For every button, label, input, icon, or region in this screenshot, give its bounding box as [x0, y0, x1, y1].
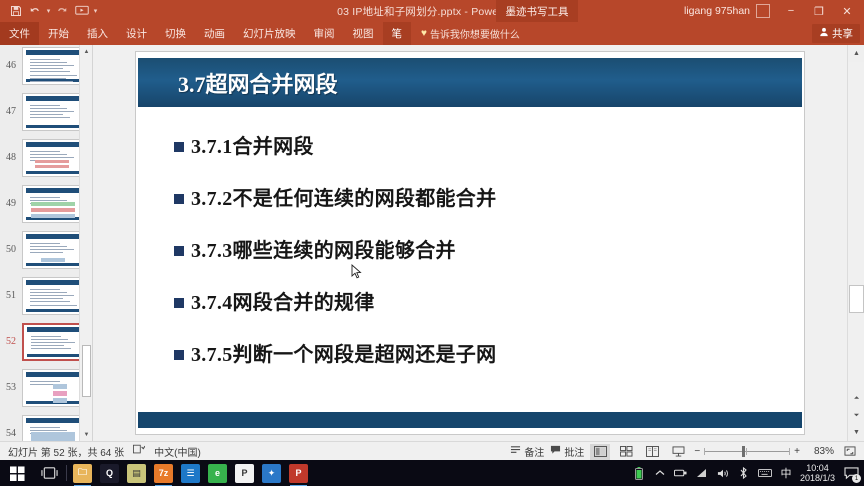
bullet-text: 3.7.5判断一个网段是超网还是子网	[191, 338, 496, 367]
language-indicator[interactable]: 中文(中国)	[154, 444, 201, 459]
comment-icon	[550, 445, 561, 458]
notes-icon	[510, 445, 521, 458]
file-explorer-icon[interactable]: 🗀	[73, 464, 92, 483]
notification-center-icon[interactable]: 1	[842, 464, 860, 482]
normal-view-button[interactable]	[590, 444, 610, 460]
bullet-square-icon	[174, 194, 184, 204]
thumbnail-number: 54	[0, 415, 22, 439]
thumbnail-scrollbar-thumb[interactable]	[82, 345, 91, 397]
title-bar: ▾ ▾ 03 IP地址和子网划分.pptx - PowerPoint 墨迹书写工…	[0, 0, 864, 22]
slideshow-view-button[interactable]	[668, 444, 688, 460]
qq-messenger-icon[interactable]: Q	[100, 464, 119, 483]
share-button[interactable]: 共享	[812, 24, 860, 43]
media-player-icon[interactable]: 7z	[154, 464, 173, 483]
bullet-text: 3.7.4网段合并的规律	[191, 286, 375, 315]
window-controls: ligang 975han − ❐ ✕	[684, 0, 860, 22]
tab-animations[interactable]: 动画	[195, 22, 234, 45]
thumbnail-number: 50	[0, 231, 22, 255]
thumbnail-preview[interactable]	[22, 139, 84, 177]
thumbnail-number: 47	[0, 93, 22, 117]
bluetooth-icon[interactable]	[737, 466, 751, 480]
zoom-in-button[interactable]: +	[794, 446, 800, 457]
thumbnail-number: 52	[0, 323, 22, 347]
bullet-square-icon	[174, 350, 184, 360]
lightbulb-icon: ♥	[421, 28, 427, 39]
tab-slideshow[interactable]: 幻灯片放映	[234, 22, 305, 45]
thumbnail-preview[interactable]	[22, 323, 84, 361]
undo-dropdown-icon[interactable]: ▾	[44, 2, 53, 21]
thumbnail-number: 51	[0, 277, 22, 301]
zoom-slider[interactable]	[704, 451, 790, 452]
scroll-down-icon[interactable]: ▼	[80, 428, 93, 441]
ribbon-tab-bar: 文件 开始 插入 设计 切换 动画 幻灯片放映 审阅 视图 笔 ♥ 告诉我你想要…	[0, 22, 864, 45]
taskbar-clock[interactable]: 10:04 2018/1/3	[800, 463, 835, 483]
tab-file[interactable]: 文件	[0, 22, 39, 45]
undo-icon[interactable]	[25, 2, 44, 21]
bullet-text: 3.7.1合并网段	[191, 130, 314, 159]
close-button[interactable]: ✕	[834, 1, 860, 22]
thumbnail-preview[interactable]	[22, 415, 84, 441]
contextual-tab-ink-tools[interactable]: 墨迹书写工具	[496, 0, 578, 22]
user-account-name[interactable]: ligang 975han	[684, 5, 750, 17]
save-icon[interactable]	[6, 2, 25, 21]
redo-icon[interactable]	[53, 2, 72, 21]
start-button-icon[interactable]	[0, 460, 34, 486]
tab-insert[interactable]: 插入	[78, 22, 117, 45]
slide-bullet-2[interactable]: 3.7.2不是任何连续的网段都能合并	[174, 182, 784, 211]
notification-badge: 1	[852, 474, 861, 483]
tab-design[interactable]: 设计	[117, 22, 156, 45]
bullet-text: 3.7.2不是任何连续的网段都能合并	[191, 182, 496, 211]
system-tray: 中 10:04 2018/1/3 1	[632, 460, 864, 486]
bullet-square-icon	[174, 246, 184, 256]
slide-bullet-5[interactable]: 3.7.5判断一个网段是超网还是子网	[174, 338, 784, 367]
battery-icon[interactable]	[632, 466, 646, 480]
wifi-icon[interactable]	[695, 466, 709, 480]
scroll-up-arrow-icon[interactable]: ▲	[848, 45, 864, 62]
spellcheck-icon[interactable]	[133, 444, 145, 458]
usb-icon[interactable]	[674, 466, 688, 480]
tell-me-placeholder: 告诉我你想要做什么	[430, 26, 520, 41]
thumbnail-number: 46	[0, 47, 22, 71]
person-icon	[819, 27, 829, 40]
clock-time: 10:04	[800, 463, 835, 473]
zoom-control[interactable]: − +	[694, 446, 800, 457]
browser-app-icon[interactable]: e	[208, 464, 227, 483]
task-list-app-icon[interactable]: ☰	[181, 464, 200, 483]
zoom-level-label[interactable]: 83%	[806, 446, 834, 457]
slide-sorter-view-button[interactable]	[616, 444, 636, 460]
bullet-square-icon	[174, 298, 184, 308]
next-slide-icon[interactable]: ⏷	[848, 407, 864, 424]
previous-slide-icon[interactable]: ⏶	[848, 390, 864, 407]
tab-transitions[interactable]: 切换	[156, 22, 195, 45]
slide-footer-banner	[138, 412, 802, 428]
tab-view[interactable]: 视图	[344, 22, 383, 45]
bullet-square-icon	[174, 142, 184, 152]
powerpoint-window: ▾ ▾ 03 IP地址和子网划分.pptx - PowerPoint 墨迹书写工…	[0, 0, 864, 486]
notes-button[interactable]: 备注	[510, 444, 544, 459]
start-presentation-icon[interactable]	[72, 2, 91, 21]
slide-body-placeholder[interactable]: 3.7.1合并网段3.7.2不是任何连续的网段都能合并3.7.3哪些连续的网段能…	[174, 130, 784, 390]
tell-me-search[interactable]: ♥ 告诉我你想要做什么	[411, 22, 520, 45]
fit-slide-to-window-button[interactable]	[840, 444, 860, 460]
thumbnail-scrollbar[interactable]: ▲ ▼	[79, 45, 92, 441]
task-view-icon[interactable]	[34, 460, 64, 486]
thumbnail-preview[interactable]	[22, 93, 84, 131]
taskbar-divider	[66, 465, 67, 481]
ime-language-icon[interactable]: 中	[779, 466, 793, 480]
reading-view-button[interactable]	[642, 444, 662, 460]
thumbnail-preview[interactable]	[22, 277, 84, 315]
thumbnail-number: 53	[0, 369, 22, 393]
zoom-out-button[interactable]: −	[694, 446, 700, 457]
tab-home[interactable]: 开始	[39, 22, 78, 45]
thumbnail-preview[interactable]	[22, 231, 84, 269]
bullet-text: 3.7.3哪些连续的网段能够合并	[191, 234, 456, 263]
thumbnail-number: 48	[0, 139, 22, 163]
slide-thumbnail-pane[interactable]: 464748495051525354 ▲ ▼	[0, 45, 93, 441]
slide-pane-scrollbar[interactable]: ▲ ⏶ ⏷ ▼	[847, 45, 864, 441]
volume-icon[interactable]	[716, 466, 730, 480]
keyboard-icon[interactable]	[758, 466, 772, 480]
slide-title-banner[interactable]: 3.7超网合并网段	[138, 58, 802, 107]
notes-app-icon[interactable]: ▤	[127, 464, 146, 483]
quick-access-toolbar: ▾ ▾	[0, 2, 100, 21]
office-app-icon[interactable]: P	[235, 464, 254, 483]
slide-bullet-1[interactable]: 3.7.1合并网段	[174, 130, 784, 159]
customize-qat-icon[interactable]: ▾	[91, 2, 100, 21]
tab-pen[interactable]: 笔	[383, 22, 412, 45]
scrollbar-thumb[interactable]	[849, 285, 864, 313]
comments-button[interactable]: 批注	[550, 444, 584, 459]
tab-review[interactable]: 审阅	[305, 22, 344, 45]
status-bar: 幻灯片 第 52 张，共 64 张 中文(中国) 备注 批注	[0, 441, 864, 460]
thumbnail-preview[interactable]	[22, 369, 84, 407]
current-slide[interactable]: 3.7超网合并网段 3.7.1合并网段3.7.2不是任何连续的网段都能合并3.7…	[136, 52, 804, 434]
chevron-up-icon[interactable]	[653, 466, 667, 480]
notes-label: 备注	[524, 444, 544, 459]
slide-title-text: 3.7超网合并网段	[138, 67, 338, 99]
slide-bullet-3[interactable]: 3.7.3哪些连续的网段能够合并	[174, 234, 784, 263]
workspace: 464748495051525354 ▲ ▼ 3.7超网合并网段 3.7.1合并…	[0, 45, 864, 441]
foxmail-app-icon[interactable]: ✦	[262, 464, 281, 483]
slide-counter[interactable]: 幻灯片 第 52 张，共 64 张	[8, 444, 124, 459]
taskbar-app-icons: 🗀Q▤7z☰eP✦P	[73, 464, 308, 483]
slide-bullet-4[interactable]: 3.7.4网段合并的规律	[174, 286, 784, 315]
account-card-icon[interactable]	[756, 4, 770, 18]
zoom-slider-handle[interactable]	[742, 446, 745, 457]
scroll-down-arrow-icon[interactable]: ▼	[848, 424, 864, 441]
restore-button[interactable]: ❐	[806, 1, 832, 22]
minimize-button[interactable]: −	[778, 1, 804, 22]
thumbnail-number: 49	[0, 185, 22, 209]
clock-date: 2018/1/3	[800, 473, 835, 483]
thumbnail-preview[interactable]	[22, 185, 84, 223]
windows-taskbar: 🗀Q▤7z☰eP✦P 中	[0, 460, 864, 486]
slide-editing-area[interactable]: 3.7超网合并网段 3.7.1合并网段3.7.2不是任何连续的网段都能合并3.7…	[93, 45, 847, 441]
scroll-up-icon[interactable]: ▲	[80, 45, 93, 58]
share-label: 共享	[832, 26, 853, 41]
thumbnail-preview[interactable]	[22, 47, 84, 85]
powerpoint-app-icon[interactable]: P	[289, 464, 308, 483]
comments-label: 批注	[564, 444, 584, 459]
